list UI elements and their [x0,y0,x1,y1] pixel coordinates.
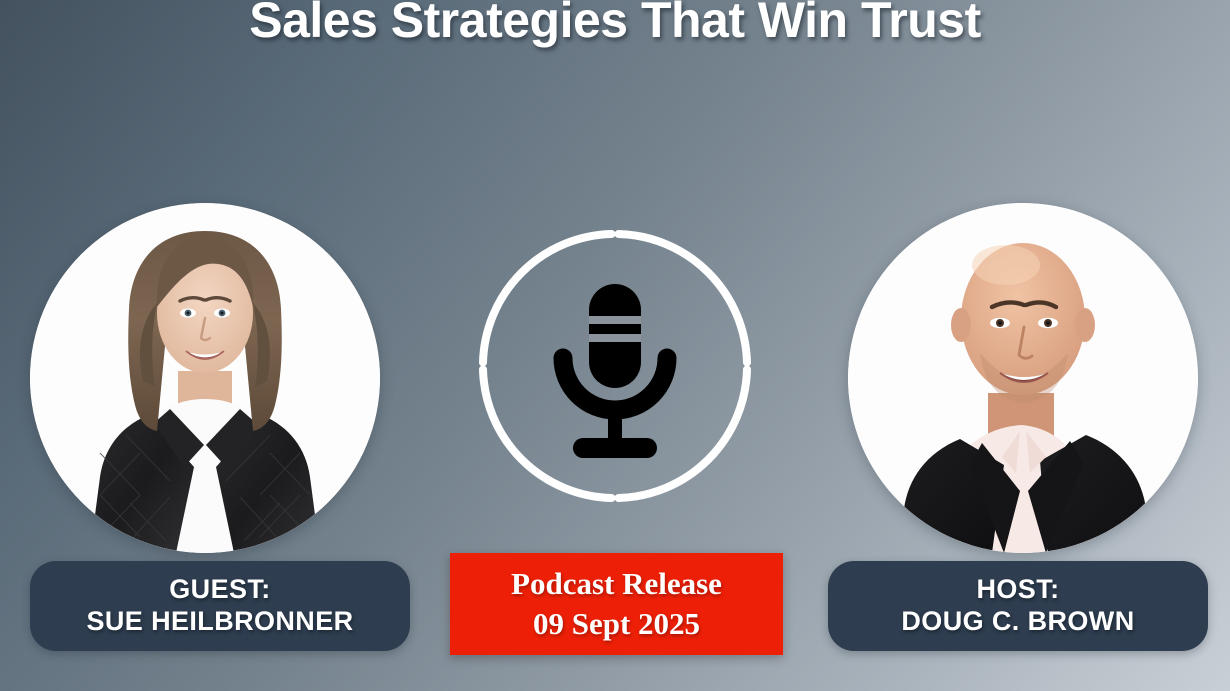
host-portrait [848,203,1198,553]
release-date: 09 Sept 2025 [533,604,700,644]
podcast-mic-badge [478,229,752,503]
guest-name-pill: GUEST: SUE HEILBRONNER [30,561,410,651]
host-role-label: HOST: [977,574,1060,606]
page-title: Sales Strategies That Win Trust [0,0,1230,49]
guest-portrait [30,203,380,553]
podcast-promo-graphic: Sales Strategies That Win Trust [0,0,1230,691]
host-name-pill: HOST: DOUG C. BROWN [828,561,1208,651]
guest-role-label: GUEST: [169,574,270,606]
release-banner: Podcast Release 09 Sept 2025 [450,553,783,655]
microphone-icon [563,284,667,458]
guest-photo [30,203,380,553]
release-title: Podcast Release [511,564,722,604]
host-photo [848,203,1198,553]
host-name: DOUG C. BROWN [901,606,1134,638]
guest-name: SUE HEILBRONNER [86,606,353,638]
